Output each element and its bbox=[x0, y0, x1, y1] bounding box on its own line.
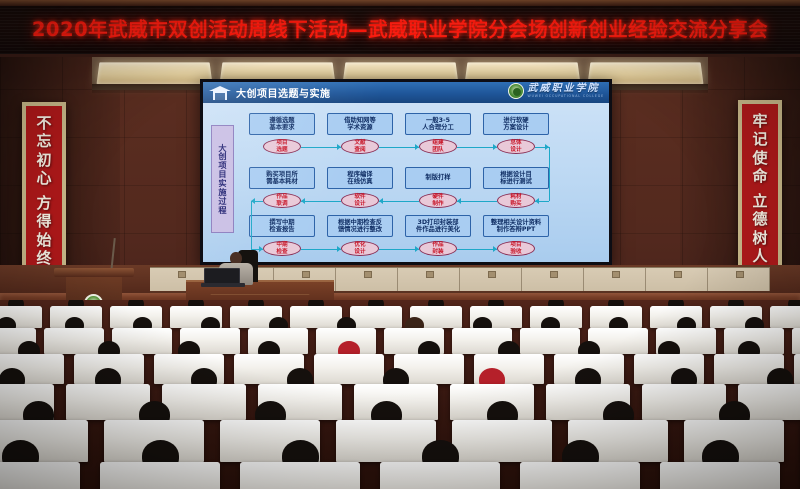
flow-arrowhead bbox=[337, 144, 341, 150]
flow-arrow bbox=[251, 201, 252, 249]
audience-chair bbox=[520, 462, 640, 489]
slide-header-bar: 大创项目选题与实施 武威职业学院 WUWEI OCCUPATIONAL COLL… bbox=[203, 82, 609, 103]
audience-chair bbox=[240, 462, 360, 489]
audience-chair bbox=[112, 328, 172, 354]
flow-arrowhead bbox=[379, 198, 383, 204]
stage-panel bbox=[708, 268, 770, 291]
stage-panel bbox=[336, 268, 398, 291]
projection-screen: 大创项目选题与实施 武威职业学院 WUWEI OCCUPATIONAL COLL… bbox=[200, 79, 612, 265]
scroll-char: 记 bbox=[752, 130, 767, 148]
flow-node: 作品封装 bbox=[419, 241, 457, 256]
audience-chair bbox=[794, 354, 800, 384]
flow-node: 文献查阅 bbox=[341, 139, 379, 154]
led-event-banner: 2020年武威市双创活动周线下活动—武威职业学院分会场创新创业经验交流分享会 bbox=[0, 0, 800, 57]
scroll-char: 忘 bbox=[36, 132, 51, 150]
flow-box: 进行软硬方案设计 bbox=[483, 113, 549, 135]
flow-box: 借助知网等学术资源 bbox=[327, 113, 393, 135]
scroll-char: 树 bbox=[752, 229, 767, 247]
audience-chair bbox=[660, 462, 780, 489]
flow-arrow bbox=[379, 147, 419, 148]
flow-node: 软件设计 bbox=[341, 193, 379, 208]
laptop-icon bbox=[204, 268, 240, 284]
scroll-char: 牢 bbox=[752, 112, 767, 130]
flow-arrow bbox=[457, 147, 497, 148]
graduation-cap-icon bbox=[209, 85, 231, 100]
audience-chair bbox=[452, 420, 552, 462]
scroll-char: 方 bbox=[36, 194, 51, 212]
flow-arrowhead bbox=[535, 198, 539, 204]
conference-hall-photo: 2020年武威市双创活动周线下活动—武威职业学院分会场创新创业经验交流分享会 不… bbox=[0, 0, 800, 489]
flow-arrowhead bbox=[493, 246, 497, 252]
flow-box: 遵循选题基本要求 bbox=[249, 113, 315, 135]
flow-node: 优化设计 bbox=[341, 241, 379, 256]
stage-panel bbox=[584, 268, 646, 291]
college-logo: 武威职业学院 WUWEI OCCUPATIONAL COLLEGE bbox=[508, 83, 604, 99]
scroll-char: 得 bbox=[36, 212, 51, 230]
flow-arrow bbox=[549, 147, 550, 201]
scroll-char: 人 bbox=[752, 247, 767, 265]
flow-arrowhead bbox=[301, 198, 305, 204]
scroll-char: 使 bbox=[752, 149, 767, 167]
flow-arrow bbox=[301, 147, 341, 148]
flow-arrow bbox=[301, 249, 341, 250]
audience-chair bbox=[290, 306, 342, 328]
flow-arrowhead bbox=[545, 144, 549, 150]
flow-node: 项目验收 bbox=[497, 241, 535, 256]
flow-box: 根据设计目标进行测试 bbox=[483, 167, 549, 189]
flow-node: 项目选题 bbox=[263, 139, 301, 154]
flow-box: 撰写中期检查报告 bbox=[249, 215, 315, 237]
audience-chair bbox=[380, 462, 500, 489]
flow-arrow bbox=[301, 201, 341, 202]
ceiling-light-panel bbox=[97, 62, 213, 84]
flow-box: 程序编译在线仿真 bbox=[327, 167, 393, 189]
flow-node: 耗材购买 bbox=[497, 193, 535, 208]
flow-box: 根据中期检查反馈情况进行整改 bbox=[327, 215, 393, 237]
flow-arrowhead bbox=[259, 246, 263, 252]
flow-box: 整理相关设计资料制作答辩PPT bbox=[483, 215, 549, 237]
flow-arrowhead bbox=[457, 198, 461, 204]
audience-chair bbox=[100, 462, 220, 489]
flow-node: 硬件制作 bbox=[419, 193, 457, 208]
lectern-top bbox=[54, 268, 134, 277]
audience-chair bbox=[0, 462, 80, 489]
audience-chair bbox=[520, 328, 580, 354]
audience-chair bbox=[44, 328, 104, 354]
college-seal-icon bbox=[508, 83, 524, 99]
left-wall-scroll: 不忘初心方得始终 bbox=[22, 102, 66, 290]
audience-area bbox=[0, 300, 800, 489]
stage-panel bbox=[522, 268, 584, 291]
vertical-label-char: 程 bbox=[218, 206, 226, 215]
audience-chair bbox=[770, 306, 800, 328]
flow-arrowhead bbox=[251, 198, 255, 204]
audience-chair bbox=[66, 384, 150, 420]
slide-flowchart: 大创项目实施过程 遵循选题基本要求借助知网等学术资源一般3-5人合理分工进行软硬… bbox=[203, 103, 609, 262]
scroll-char: 初 bbox=[36, 151, 51, 169]
flow-box: 一般3-5人合理分工 bbox=[405, 113, 471, 135]
scroll-char: 命 bbox=[752, 167, 767, 185]
scroll-char: 不 bbox=[36, 114, 51, 132]
flow-arrowhead bbox=[493, 144, 497, 150]
audience-chair bbox=[792, 328, 800, 354]
scroll-char: 心 bbox=[36, 169, 51, 187]
slide-title: 大创项目选题与实施 bbox=[236, 85, 331, 100]
flow-node: 中期检查 bbox=[263, 241, 301, 256]
audience-chair bbox=[314, 354, 384, 384]
scroll-char: 德 bbox=[752, 210, 767, 228]
flow-node: 作品联调 bbox=[263, 193, 301, 208]
scroll-char: 立 bbox=[752, 192, 767, 210]
flow-arrowhead bbox=[337, 246, 341, 252]
flowchart-vertical-label: 大创项目实施过程 bbox=[211, 125, 234, 233]
audience-chair bbox=[642, 384, 726, 420]
banner-top-frame bbox=[0, 0, 800, 6]
presentation-slide: 大创项目选题与实施 武威职业学院 WUWEI OCCUPATIONAL COLL… bbox=[203, 82, 609, 262]
flow-arrow bbox=[457, 249, 497, 250]
flow-node: 组建团队 bbox=[419, 139, 457, 154]
flow-arrow bbox=[379, 201, 419, 202]
scroll-char: 始 bbox=[36, 231, 51, 249]
stage-panel bbox=[460, 268, 522, 291]
stage-panel bbox=[398, 268, 460, 291]
flow-box: 购买项目所需基本耗材 bbox=[249, 167, 315, 189]
flow-node: 总体设计 bbox=[497, 139, 535, 154]
flow-arrow bbox=[379, 249, 419, 250]
flow-box: 制版打样 bbox=[405, 167, 471, 189]
flow-arrowhead bbox=[415, 246, 419, 252]
flow-arrowhead bbox=[415, 144, 419, 150]
stage-panel bbox=[646, 268, 708, 291]
flow-arrow bbox=[457, 201, 497, 202]
college-name-cn: 武威职业学院 bbox=[528, 84, 604, 94]
flow-box: 3D打印封装部件作品进行美化 bbox=[405, 215, 471, 237]
college-name-en: WUWEI OCCUPATIONAL COLLEGE bbox=[528, 95, 604, 98]
audience-chair bbox=[350, 306, 402, 328]
led-banner-text: 2020年武威市双创活动周线下活动—武威职业学院分会场创新创业经验交流分享会 bbox=[32, 13, 768, 42]
audience-chair bbox=[162, 384, 246, 420]
